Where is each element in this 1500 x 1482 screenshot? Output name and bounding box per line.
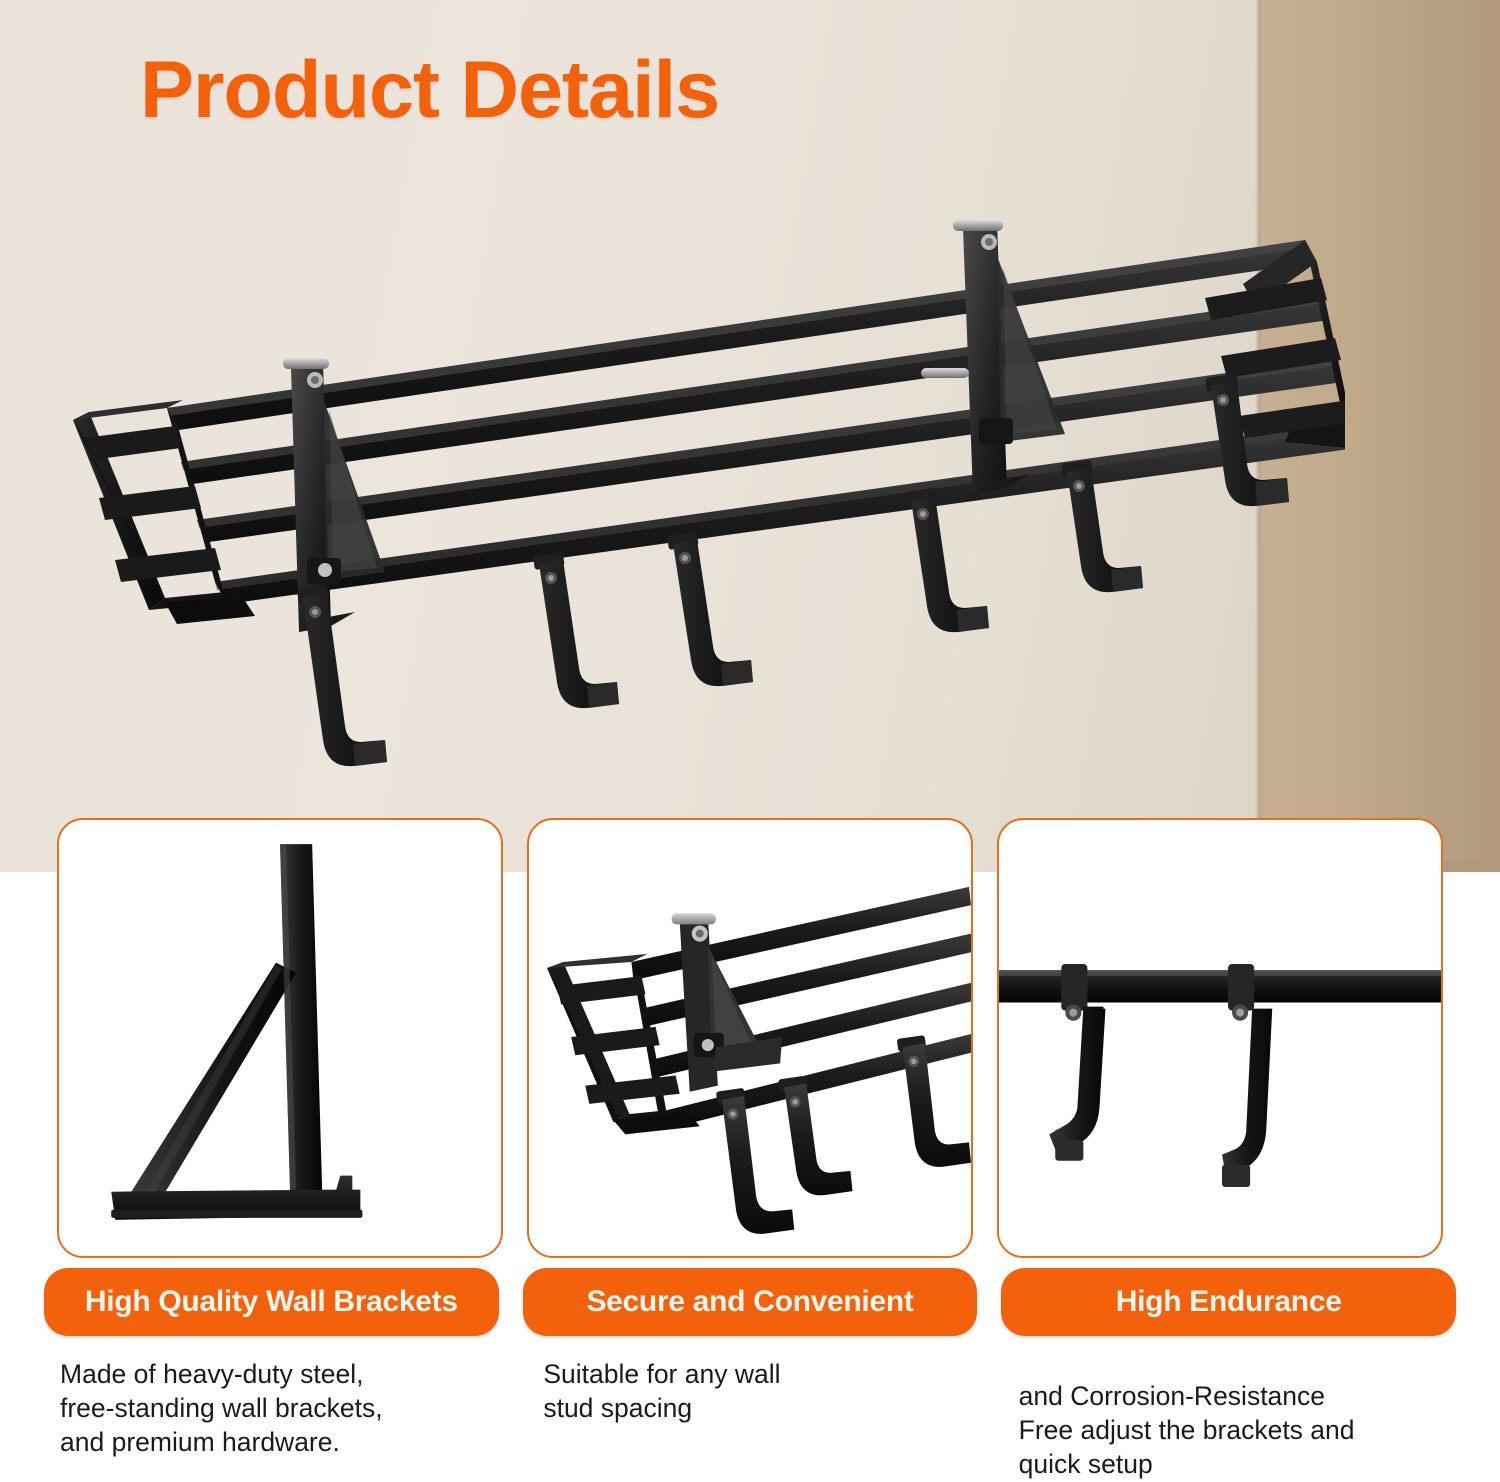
card2-hook-2: [778, 1076, 852, 1196]
feature-card-3[interactable]: [997, 818, 1443, 1258]
hook-2: [533, 552, 619, 708]
badge-high-quality-wall-brackets[interactable]: High Quality Wall Brackets: [44, 1268, 499, 1336]
hero-product-image: [55, 220, 1345, 790]
feature-card-2[interactable]: [527, 818, 973, 1258]
hook-3: [667, 532, 753, 686]
card2-hook-1: [716, 1088, 794, 1234]
badge-secure-and-convenient[interactable]: Secure and Convenient: [523, 1268, 978, 1336]
hook-1: [297, 586, 387, 766]
product-details-page: High Quality Wall Brackets Secure and Co…: [0, 0, 1500, 1482]
hook-4: [905, 488, 989, 632]
rack-geometry: [73, 220, 1345, 766]
feature-badges-row: High Quality Wall Brackets Secure and Co…: [0, 1268, 1500, 1336]
page-title: Product Details: [140, 44, 719, 137]
feature-card-1[interactable]: [57, 818, 503, 1258]
description-high-quality-wall-brackets: Made of heavy-duty steel, free-standing …: [44, 1358, 497, 1482]
description-secure-and-convenient: Suitable for any wall stud spacing: [521, 1358, 980, 1482]
description-high-endurance: and Corrosion-Resistance Free adjust the…: [1005, 1358, 1456, 1482]
feature-cards-row: [0, 818, 1500, 1258]
badge-high-endurance[interactable]: High Endurance: [1001, 1268, 1456, 1336]
rack-bracket-hooks-icon: [529, 820, 971, 1256]
triangular-wall-bracket-icon: [59, 820, 501, 1256]
feature-descriptions-row: Made of heavy-duty steel, free-standing …: [0, 1358, 1500, 1482]
two-hooks-on-bar-icon: [999, 820, 1441, 1256]
